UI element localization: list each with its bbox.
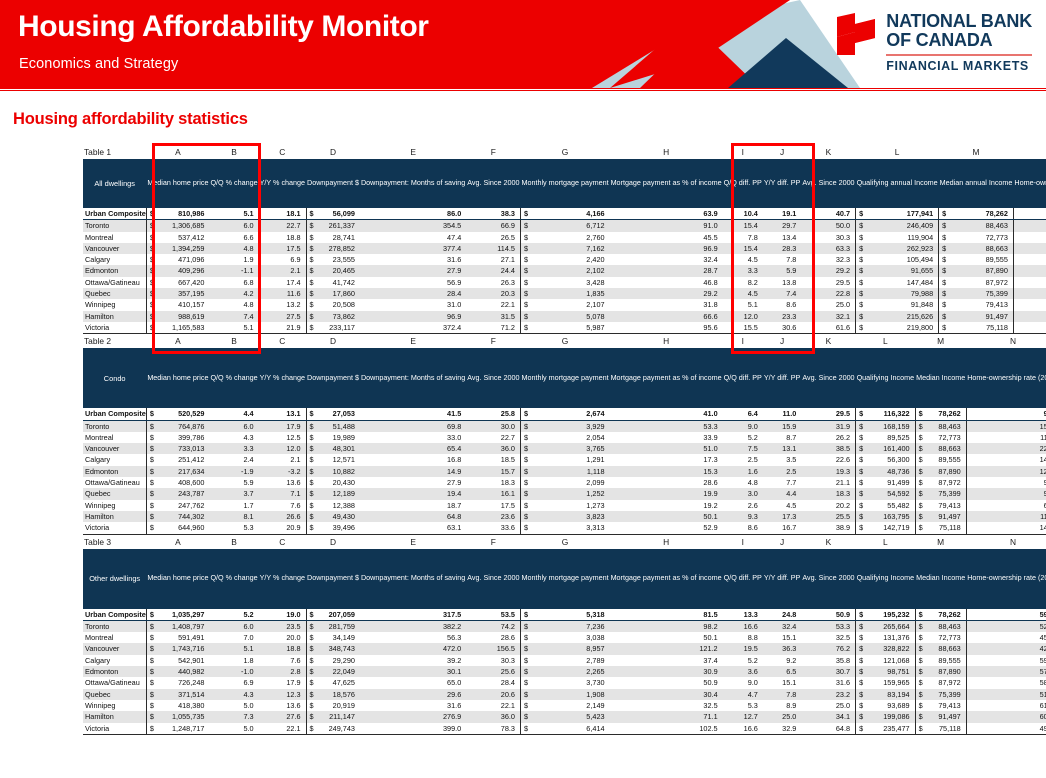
value-cell: 20,919 bbox=[319, 700, 360, 711]
currency-symbol-cell: $ bbox=[146, 655, 161, 666]
value-cell: 79,988 bbox=[872, 288, 939, 299]
column-header: Y/Y diff. PP bbox=[763, 549, 802, 609]
value-cell: 5.1 bbox=[209, 208, 258, 220]
value-cell: 23,555 bbox=[319, 254, 360, 265]
currency-symbol-cell: $ bbox=[146, 632, 161, 643]
value-cell: 15.4 bbox=[723, 243, 763, 254]
value-cell: 5.1 bbox=[209, 643, 258, 654]
value-cell: 31.5 bbox=[466, 311, 520, 322]
value-cell: 98,751 bbox=[867, 666, 915, 677]
value-cell: 2,099 bbox=[547, 477, 609, 488]
currency-symbol-cell: $ bbox=[939, 288, 956, 299]
currency-symbol-cell: $ bbox=[520, 466, 547, 477]
value-cell: 247,762 bbox=[162, 500, 209, 511]
currency-symbol-cell: $ bbox=[939, 232, 956, 243]
column-letters-row: Table 2ABCDEFGHIJKLMNO bbox=[83, 334, 1046, 348]
column-letter-f: F bbox=[466, 334, 520, 348]
currency-symbol-cell: $ bbox=[306, 243, 319, 254]
currency-symbol-cell: $ bbox=[306, 632, 319, 643]
value-cell: 87,972 bbox=[927, 677, 966, 688]
value-cell: 6.0 bbox=[209, 220, 258, 232]
value-cell: 8.1 bbox=[209, 511, 258, 522]
value-cell: 20,430 bbox=[320, 477, 360, 488]
value-cell: 70% bbox=[1013, 311, 1046, 322]
value-cell: 17.9 bbox=[259, 420, 306, 432]
value-cell: 207,059 bbox=[319, 609, 360, 621]
value-cell: 4,166 bbox=[545, 208, 610, 220]
value-cell: 67% bbox=[1013, 299, 1046, 310]
value-cell: 278,852 bbox=[319, 243, 360, 254]
currency-symbol-cell: $ bbox=[306, 288, 319, 299]
value-cell: 3,428 bbox=[545, 277, 610, 288]
value-cell: 1,248,717 bbox=[161, 723, 209, 735]
currency-symbol-cell: $ bbox=[915, 700, 927, 711]
value-cell: 20.0 bbox=[259, 632, 306, 643]
value-cell: 20.2 bbox=[801, 500, 855, 511]
value-cell: 199,086 bbox=[867, 711, 915, 722]
value-cell: 63.9 bbox=[610, 208, 723, 220]
city-name-cell: Quebec bbox=[83, 689, 146, 700]
value-cell: 20,465 bbox=[319, 265, 360, 276]
value-cell: -1.1 bbox=[209, 265, 258, 276]
currency-symbol-cell: $ bbox=[856, 466, 869, 477]
column-header: Downpayment: Months of saving bbox=[360, 549, 466, 609]
value-cell: 88,663 bbox=[956, 243, 1013, 254]
table-row: Winnipeg$247,7621.77.6$12,38818.717.5$1,… bbox=[83, 500, 1046, 511]
currency-symbol-cell: $ bbox=[146, 265, 161, 276]
currency-symbol-cell: $ bbox=[939, 265, 956, 276]
value-cell: 56,099 bbox=[319, 208, 360, 220]
currency-symbol-cell: $ bbox=[939, 311, 956, 322]
value-cell: 91,655 bbox=[872, 265, 939, 276]
value-cell: 66.6 bbox=[610, 311, 723, 322]
value-cell: 45.5 bbox=[610, 232, 723, 243]
value-cell: 51,488 bbox=[320, 420, 360, 432]
value-cell: 78,262 bbox=[956, 208, 1013, 220]
value-cell: 246,409 bbox=[872, 220, 939, 232]
currency-symbol-cell: $ bbox=[306, 299, 319, 310]
value-cell: 71.1 bbox=[610, 711, 723, 722]
value-cell: 96.9 bbox=[360, 311, 466, 322]
value-cell: 53.3 bbox=[610, 420, 723, 432]
city-name-cell: Victoria bbox=[83, 522, 146, 534]
currency-symbol-cell: $ bbox=[915, 500, 928, 511]
value-cell: 25.5 bbox=[801, 511, 855, 522]
currency-symbol-cell: $ bbox=[306, 311, 319, 322]
value-cell: 121,068 bbox=[867, 655, 915, 666]
currency-symbol-cell: $ bbox=[915, 620, 927, 632]
table-row: Ottawa/Gatineau$667,4206.817.4$41,74256.… bbox=[83, 277, 1046, 288]
value-cell: 5.3 bbox=[209, 522, 258, 534]
column-letter-i: I bbox=[723, 535, 763, 549]
currency-symbol-cell: $ bbox=[520, 299, 544, 310]
currency-symbol-cell: $ bbox=[915, 477, 928, 488]
value-cell: 11% bbox=[966, 432, 1046, 443]
value-cell: 50.0 bbox=[801, 220, 855, 232]
table-row: Calgary$251,4122.42.1$12,57116.818.5$1,2… bbox=[83, 454, 1046, 465]
value-cell: 1,408,797 bbox=[161, 620, 209, 632]
value-cell: 357,195 bbox=[161, 288, 209, 299]
value-cell: 72,773 bbox=[927, 632, 966, 643]
table-header-row: Other dwellingsMedian home priceQ/Q % ch… bbox=[83, 549, 1046, 609]
value-cell: 30.0 bbox=[466, 420, 520, 432]
column-letter-e: E bbox=[360, 535, 466, 549]
value-cell: 119,904 bbox=[872, 232, 939, 243]
currency-symbol-cell: $ bbox=[306, 208, 319, 220]
currency-symbol-cell: $ bbox=[915, 689, 927, 700]
value-cell: 1.8 bbox=[209, 655, 258, 666]
column-header: Mortgage payment as % of income bbox=[610, 348, 723, 408]
column-header: Q/Q % change bbox=[209, 348, 258, 408]
value-cell: 20.6 bbox=[466, 689, 520, 700]
currency-symbol-cell: $ bbox=[520, 443, 547, 454]
value-cell: 51.0 bbox=[610, 443, 723, 454]
value-cell: 22.1 bbox=[466, 700, 520, 711]
currency-symbol-cell: $ bbox=[520, 288, 544, 299]
value-cell: 4.4 bbox=[763, 488, 802, 499]
value-cell: 75,118 bbox=[956, 322, 1013, 334]
value-cell: 51% bbox=[966, 689, 1046, 700]
table-row: Ottawa/Gatineau$408,6005.913.6$20,43027.… bbox=[83, 477, 1046, 488]
currency-symbol-cell: $ bbox=[915, 466, 928, 477]
value-cell: 48,301 bbox=[320, 443, 360, 454]
column-letter-b: B bbox=[209, 535, 258, 549]
currency-symbol-cell: $ bbox=[146, 288, 161, 299]
value-cell: 35.8 bbox=[801, 655, 855, 666]
table-row: Edmonton$440,982-1.02.8$22,04930.125.6$2… bbox=[83, 666, 1046, 677]
value-cell: 5,987 bbox=[545, 322, 610, 334]
value-cell: 36.0 bbox=[466, 443, 520, 454]
table-row: Victoria$644,9605.320.9$39,49663.133.6$3… bbox=[83, 522, 1046, 534]
currency-symbol-cell: $ bbox=[306, 689, 319, 700]
value-cell: 591,491 bbox=[161, 632, 209, 643]
value-cell: 32.1 bbox=[801, 311, 855, 322]
nbc-logo: NATIONAL BANK OF CANADA FINANCIAL MARKET… bbox=[835, 12, 1032, 73]
value-cell: 4.5 bbox=[723, 254, 763, 265]
value-cell: 472.0 bbox=[360, 643, 466, 654]
value-cell: 93,689 bbox=[867, 700, 915, 711]
value-cell: 18.8 bbox=[259, 643, 306, 654]
value-cell: 63.1 bbox=[360, 522, 466, 534]
value-cell: 49% bbox=[966, 723, 1046, 735]
column-letter-n: N bbox=[966, 535, 1046, 549]
value-cell: 69.8 bbox=[360, 420, 466, 432]
column-header: Median home price bbox=[146, 159, 209, 208]
value-cell: 28.6 bbox=[466, 632, 520, 643]
currency-symbol-cell: $ bbox=[856, 408, 869, 420]
column-header: Downpayment: Months of saving bbox=[360, 159, 466, 208]
value-cell: 7.8 bbox=[763, 689, 802, 700]
value-cell: 9.0 bbox=[723, 420, 763, 432]
value-cell: 2,107 bbox=[545, 299, 610, 310]
table-row: Toronto$764,8766.017.9$51,48869.830.0$3,… bbox=[83, 420, 1046, 432]
value-cell: 5.2 bbox=[723, 432, 763, 443]
currency-symbol-cell: $ bbox=[856, 609, 868, 621]
value-cell: 63.3 bbox=[801, 243, 855, 254]
currency-symbol-cell: $ bbox=[856, 477, 869, 488]
value-cell: 15.4 bbox=[723, 220, 763, 232]
value-cell: 2,054 bbox=[547, 432, 609, 443]
value-cell: 2.6 bbox=[723, 500, 763, 511]
value-cell: 88,463 bbox=[956, 220, 1013, 232]
value-cell: 32.9 bbox=[763, 723, 802, 735]
value-cell: 20,508 bbox=[319, 299, 360, 310]
value-cell: 36.0 bbox=[466, 711, 520, 722]
currency-symbol-cell: $ bbox=[520, 477, 547, 488]
table-row: Montreal$591,4917.020.0$34,14956.328.6$3… bbox=[83, 632, 1046, 643]
city-name-cell: Montreal bbox=[83, 632, 146, 643]
column-letter-d: D bbox=[306, 145, 360, 159]
value-cell: 2,149 bbox=[545, 700, 610, 711]
value-cell: 3,929 bbox=[547, 420, 609, 432]
value-cell: 39.2 bbox=[360, 655, 466, 666]
value-cell: 3,730 bbox=[545, 677, 610, 688]
value-cell: 41.5 bbox=[360, 408, 466, 420]
value-cell: 6.6 bbox=[209, 232, 258, 243]
column-header: Downpayment $ bbox=[306, 348, 360, 408]
value-cell: 47.4 bbox=[360, 232, 466, 243]
value-cell: 6.9 bbox=[259, 254, 306, 265]
value-cell: 9.0 bbox=[723, 677, 763, 688]
value-cell: 3.3 bbox=[723, 265, 763, 276]
value-cell: 3,313 bbox=[547, 522, 609, 534]
value-cell: 89,525 bbox=[869, 432, 915, 443]
value-cell: 87,972 bbox=[928, 477, 966, 488]
value-cell: 2,674 bbox=[547, 408, 609, 420]
column-header: Median home price bbox=[146, 549, 209, 609]
currency-symbol-cell: $ bbox=[856, 655, 868, 666]
currency-symbol-cell: $ bbox=[146, 443, 162, 454]
currency-symbol-cell: $ bbox=[146, 408, 162, 420]
value-cell: 78,262 bbox=[928, 408, 966, 420]
value-cell: 73% bbox=[1013, 254, 1046, 265]
logo-line1: NATIONAL BANK bbox=[886, 11, 1032, 31]
table-label: Table 2 bbox=[83, 334, 146, 348]
value-cell: 161,400 bbox=[869, 443, 915, 454]
value-cell: 1,055,735 bbox=[161, 711, 209, 722]
value-cell: 159,965 bbox=[867, 677, 915, 688]
value-cell: 15.1 bbox=[763, 632, 802, 643]
column-letter-m: M bbox=[915, 334, 966, 348]
value-cell: 2.8 bbox=[259, 666, 306, 677]
value-cell: 131,376 bbox=[867, 632, 915, 643]
value-cell: 13.6 bbox=[259, 477, 306, 488]
value-cell: 11.0 bbox=[763, 408, 802, 420]
value-cell: 7.7 bbox=[763, 477, 802, 488]
table-row: Toronto$1,306,6856.022.7$261,337354.566.… bbox=[83, 220, 1046, 232]
currency-symbol-cell: $ bbox=[146, 609, 161, 621]
affordability-table: Table 3ABCDEFGHIJKLMNOther dwellingsMedi… bbox=[83, 535, 1046, 735]
currency-symbol-cell: $ bbox=[915, 443, 928, 454]
currency-symbol-cell: $ bbox=[146, 277, 161, 288]
value-cell: 1,835 bbox=[545, 288, 610, 299]
value-cell: 75,118 bbox=[927, 723, 966, 735]
currency-symbol-cell: $ bbox=[306, 511, 320, 522]
value-cell: 4.3 bbox=[209, 432, 258, 443]
city-name-cell: Ottawa/Gatineau bbox=[83, 277, 146, 288]
column-letter-m: M bbox=[939, 145, 1014, 159]
value-cell: 9% bbox=[966, 408, 1046, 420]
city-name-cell: Hamilton bbox=[83, 511, 146, 522]
value-cell: 89,555 bbox=[956, 254, 1013, 265]
value-cell: 27.5 bbox=[259, 311, 306, 322]
value-cell: 19.1 bbox=[763, 208, 802, 220]
column-header: Y/Y % change bbox=[259, 348, 306, 408]
value-cell: 65.0 bbox=[360, 677, 466, 688]
column-header: Monthly mortgage payment bbox=[520, 159, 609, 208]
value-cell: 16.8 bbox=[360, 454, 466, 465]
column-letter-f: F bbox=[466, 145, 520, 159]
column-letter-a: A bbox=[146, 145, 209, 159]
value-cell: 70% bbox=[1013, 265, 1046, 276]
value-cell: 1,035,297 bbox=[161, 609, 209, 621]
currency-symbol-cell: $ bbox=[520, 711, 544, 722]
column-header: Y/Y diff. PP bbox=[763, 159, 802, 208]
currency-symbol-cell: $ bbox=[146, 511, 162, 522]
currency-symbol-cell: $ bbox=[520, 643, 544, 654]
city-name-cell: Calgary bbox=[83, 655, 146, 666]
currency-symbol-cell: $ bbox=[306, 666, 319, 677]
currency-symbol-cell: $ bbox=[520, 632, 544, 643]
city-name-cell: Toronto bbox=[83, 220, 146, 232]
value-cell: 15.3 bbox=[610, 466, 723, 477]
value-cell: 22.7 bbox=[466, 432, 520, 443]
value-cell: 76.2 bbox=[801, 643, 855, 654]
currency-symbol-cell: $ bbox=[306, 723, 319, 735]
value-cell: 17.3 bbox=[610, 454, 723, 465]
value-cell: 17,860 bbox=[319, 288, 360, 299]
value-cell: 79,413 bbox=[928, 500, 966, 511]
value-cell: 27.6 bbox=[259, 711, 306, 722]
currency-symbol-cell: $ bbox=[520, 511, 547, 522]
currency-symbol-cell: $ bbox=[306, 700, 319, 711]
value-cell: 7.6 bbox=[259, 500, 306, 511]
value-cell: 11% bbox=[966, 511, 1046, 522]
currency-symbol-cell: $ bbox=[520, 689, 544, 700]
value-cell: 19.0 bbox=[259, 609, 306, 621]
value-cell: 34.1 bbox=[801, 711, 855, 722]
table-row: Hamilton$744,3028.126.6$49,43064.823.6$3… bbox=[83, 511, 1046, 522]
value-cell: 7.3 bbox=[209, 711, 258, 722]
value-cell: 18.3 bbox=[801, 488, 855, 499]
table-row: Montreal$537,4126.618.8$28,74147.426.5$2… bbox=[83, 232, 1046, 243]
value-cell: 30.3 bbox=[466, 655, 520, 666]
value-cell: 25.0 bbox=[801, 700, 855, 711]
value-cell: 3,765 bbox=[547, 443, 609, 454]
value-cell: 52.9 bbox=[610, 522, 723, 534]
value-cell: 4.8 bbox=[723, 477, 763, 488]
table-3-wrapper: Table 3ABCDEFGHIJKLMNOther dwellingsMedi… bbox=[83, 535, 1035, 735]
value-cell: 18.1 bbox=[259, 208, 306, 220]
value-cell: 3.7 bbox=[209, 488, 258, 499]
table-label: Table 3 bbox=[83, 535, 146, 549]
city-name-cell: Winnipeg bbox=[83, 299, 146, 310]
column-header: Median Income bbox=[915, 549, 966, 609]
value-cell: 3.5 bbox=[763, 454, 802, 465]
value-cell: 1,165,583 bbox=[161, 322, 209, 334]
currency-symbol-cell: $ bbox=[856, 632, 868, 643]
column-letter-d: D bbox=[306, 334, 360, 348]
value-cell: 18.5 bbox=[466, 454, 520, 465]
value-cell: 23.5 bbox=[259, 620, 306, 632]
value-cell: 32.4 bbox=[763, 620, 802, 632]
value-cell: 17.4 bbox=[259, 277, 306, 288]
currency-symbol-cell: $ bbox=[306, 711, 319, 722]
currency-symbol-cell: $ bbox=[520, 311, 544, 322]
currency-symbol-cell: $ bbox=[520, 723, 544, 735]
value-cell: 65.4 bbox=[360, 443, 466, 454]
value-cell: 4.8 bbox=[209, 243, 258, 254]
currency-symbol-cell: $ bbox=[856, 700, 868, 711]
column-letter-c: C bbox=[259, 334, 306, 348]
table-row: Winnipeg$418,3805.013.6$20,91931.622.1$2… bbox=[83, 700, 1046, 711]
table-row: Winnipeg$410,1574.813.2$20,50831.022.1$2… bbox=[83, 299, 1046, 310]
value-cell: 32.5 bbox=[610, 700, 723, 711]
currency-symbol-cell: $ bbox=[146, 322, 161, 334]
value-cell: 211,147 bbox=[319, 711, 360, 722]
currency-symbol-cell: $ bbox=[306, 677, 319, 688]
value-cell: 810,986 bbox=[161, 208, 209, 220]
value-cell: 63% bbox=[1013, 322, 1046, 334]
currency-symbol-cell: $ bbox=[520, 620, 544, 632]
currency-symbol-cell: $ bbox=[520, 322, 544, 334]
value-cell: 91,497 bbox=[956, 311, 1013, 322]
city-name-cell: Winnipeg bbox=[83, 500, 146, 511]
currency-symbol-cell: $ bbox=[856, 277, 872, 288]
city-name-cell: Urban Composite bbox=[83, 208, 146, 220]
currency-symbol-cell: $ bbox=[520, 488, 547, 499]
column-letter-j: J bbox=[763, 145, 802, 159]
currency-symbol-cell: $ bbox=[306, 277, 319, 288]
value-cell: 23.2 bbox=[801, 689, 855, 700]
column-header: Y/Y diff. PP bbox=[763, 348, 802, 408]
column-header: Monthly mortgage payment bbox=[520, 549, 609, 609]
value-cell: 59% bbox=[966, 655, 1046, 666]
value-cell: 2,102 bbox=[545, 265, 610, 276]
column-letters-row: Table 3ABCDEFGHIJKLMN bbox=[83, 535, 1046, 549]
value-cell: 3.3 bbox=[209, 443, 258, 454]
currency-symbol-cell: $ bbox=[520, 220, 544, 232]
column-letter-b: B bbox=[209, 145, 258, 159]
city-name-cell: Toronto bbox=[83, 620, 146, 632]
value-cell: 121.2 bbox=[610, 643, 723, 654]
value-cell: 22.6 bbox=[801, 454, 855, 465]
table-row: Calgary$542,9011.87.6$29,29039.230.3$2,7… bbox=[83, 655, 1046, 666]
currency-symbol-cell: $ bbox=[915, 408, 928, 420]
currency-symbol-cell: $ bbox=[939, 277, 956, 288]
value-cell: 6.5 bbox=[763, 666, 802, 677]
currency-symbol-cell: $ bbox=[856, 522, 869, 534]
value-cell: 667,420 bbox=[161, 277, 209, 288]
value-cell: 2.5 bbox=[763, 466, 802, 477]
currency-symbol-cell: $ bbox=[520, 254, 544, 265]
value-cell: 1,252 bbox=[547, 488, 609, 499]
value-cell: 23.6 bbox=[466, 511, 520, 522]
value-cell: 12,571 bbox=[320, 454, 360, 465]
city-name-cell: Urban Composite bbox=[83, 408, 146, 420]
value-cell: 4.5 bbox=[763, 500, 802, 511]
logo-line3: FINANCIAL MARKETS bbox=[886, 59, 1032, 73]
currency-symbol-cell: $ bbox=[306, 477, 320, 488]
value-cell: 31.0 bbox=[360, 299, 466, 310]
value-cell: 2.5 bbox=[723, 454, 763, 465]
value-cell: 168,159 bbox=[869, 420, 915, 432]
currency-symbol-cell: $ bbox=[915, 522, 928, 534]
value-cell: 195,232 bbox=[867, 609, 915, 621]
value-cell: 64% bbox=[1013, 243, 1046, 254]
currency-symbol-cell: $ bbox=[306, 488, 320, 499]
currency-symbol-cell: $ bbox=[146, 432, 162, 443]
